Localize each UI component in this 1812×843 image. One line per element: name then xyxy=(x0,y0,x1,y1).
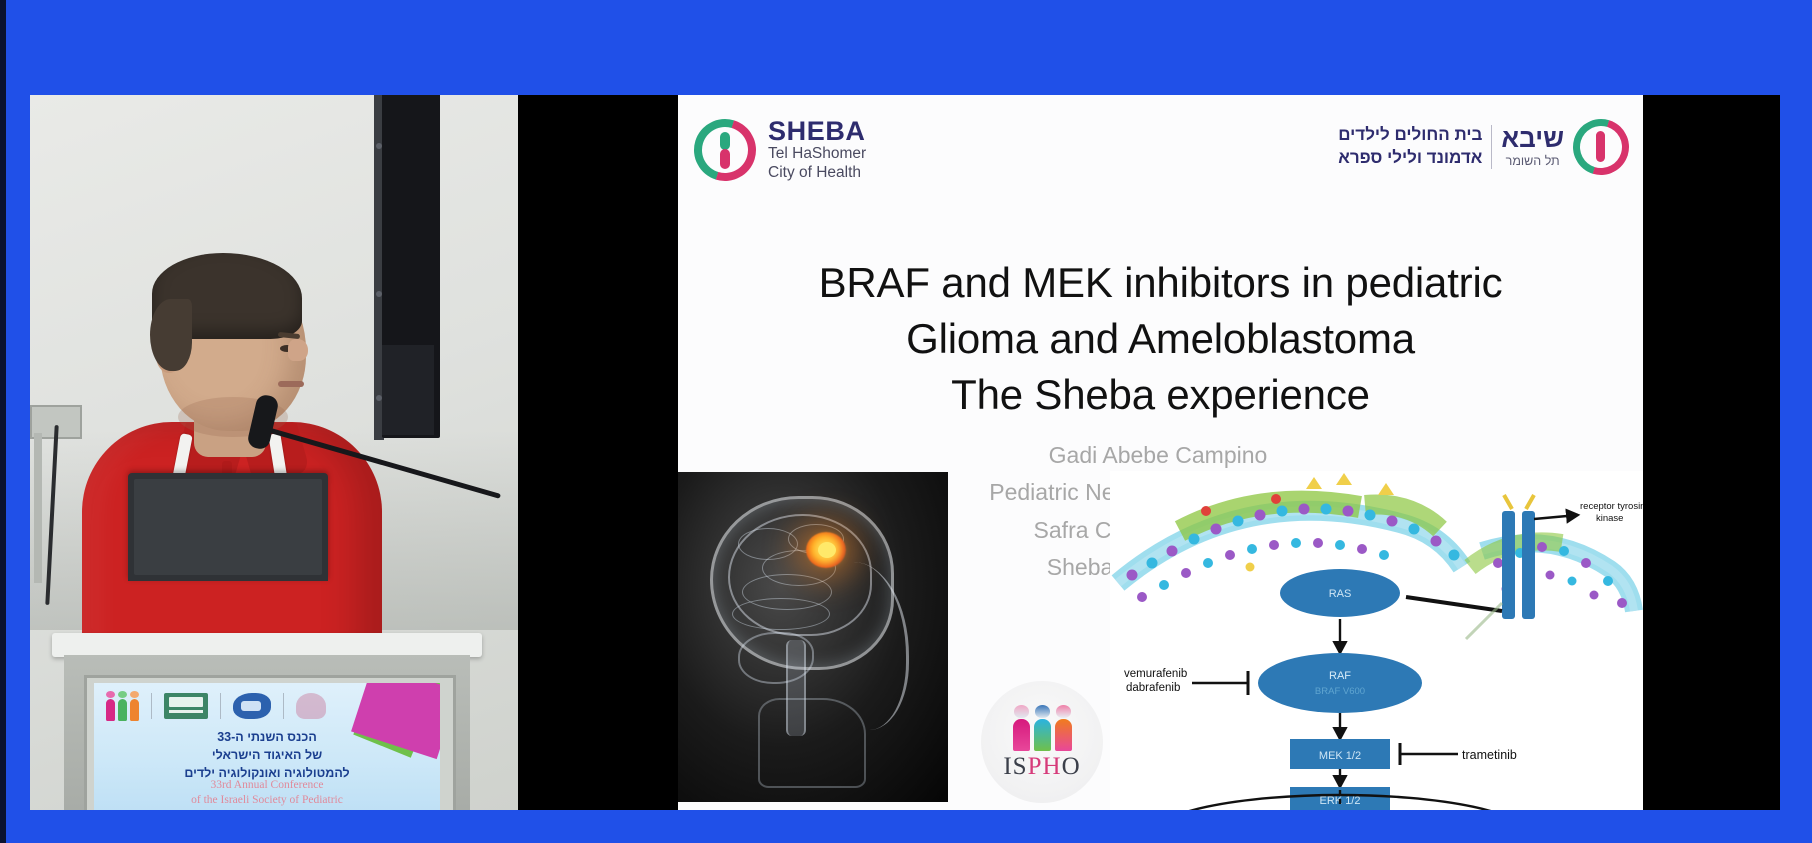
banner-ispho-icon xyxy=(106,691,139,721)
sheba-logo-line-2: Tel HaShomer xyxy=(768,145,866,164)
skull-illustration xyxy=(702,490,920,766)
banner-society-logo-icon xyxy=(233,693,271,719)
letterbox-gap xyxy=(518,95,678,810)
sheba-logo-line-3: City of Health xyxy=(768,164,866,183)
slide-title: BRAF and MEK inhibitors in pediatric Gli… xyxy=(678,255,1643,423)
nucleus-svg: Gene transcription cell growth prolifera… xyxy=(1110,685,1643,810)
ispho-figures-icon xyxy=(1013,705,1072,751)
tumor-core xyxy=(818,542,836,558)
logo-divider xyxy=(1491,125,1492,169)
slide-title-line-2: Glioma and Ameloblastoma xyxy=(678,311,1643,367)
podium-top xyxy=(52,633,482,657)
receptor-label-line-1: receptor tyrosine xyxy=(1580,501,1643,512)
side-table-leg xyxy=(34,433,42,583)
speaker-nose xyxy=(288,339,308,361)
cell-membrane-left xyxy=(1118,502,1462,583)
banner-hebrew-line-2: של האיגוד הישראלי xyxy=(94,747,440,765)
neck-outline xyxy=(758,698,866,788)
podium-laptop xyxy=(128,473,328,581)
hospital-hebrew-line-1: בית החולים לילדים xyxy=(1338,124,1482,147)
presentation-slide: SHEBA Tel HaShomer City of Health שיבא ת… xyxy=(678,95,1643,810)
banner-english-text: 33rd Annual Conference of the Israeli So… xyxy=(94,778,440,808)
sheba-mark-icon xyxy=(694,119,756,181)
brain-gyrus xyxy=(732,598,830,630)
banner-logo-divider xyxy=(220,693,221,719)
conference-banner: הכנס השנתי ה-33 של האיגוד הישראלי להמטול… xyxy=(94,683,440,810)
receptor-label-line-2: kinase xyxy=(1596,513,1623,524)
banner-logo-divider xyxy=(283,693,284,719)
sheba-hebrew-brand-sub: תל השומר xyxy=(1501,153,1564,169)
raf-label: RAF xyxy=(1329,670,1351,682)
banner-logo-divider xyxy=(151,693,152,719)
ispho-wordmark: ISPHO xyxy=(1003,754,1080,779)
hospital-hebrew-line-2: אדמונד ולילי ספרא xyxy=(1338,147,1482,170)
sheba-logo-text: SHEBA Tel HaShomer City of Health xyxy=(768,117,866,183)
video-stage: הכנס השנתי ה-33 של האיגוד הישראלי להמטול… xyxy=(30,95,1780,810)
ispho-figure-2 xyxy=(1034,705,1051,751)
sheba-logo: SHEBA Tel HaShomer City of Health xyxy=(694,117,866,183)
ispho-logo: ISPHO xyxy=(981,681,1103,803)
sheba-logo-line-1: SHEBA xyxy=(768,117,866,145)
brain-xray-image xyxy=(678,472,948,802)
ispho-figure-3 xyxy=(1055,705,1072,751)
video-player-frame: הכנס השנתי ה-33 של האיגוד הישראלי להמטול… xyxy=(0,0,1812,843)
banner-hebrew-line-1: הכנס השנתי ה-33 xyxy=(94,729,440,747)
raf-inhibitor-label-1: vemurafenib xyxy=(1124,668,1187,680)
mapk-pathway-diagram: receptor tyrosine kinase RAS RAF BRAF V6… xyxy=(1110,471,1643,810)
banner-fourth-logo-icon xyxy=(296,693,326,719)
author-name: Gadi Abebe Campino xyxy=(888,437,1428,474)
banner-english-line-1: 33rd Annual Conference xyxy=(94,778,440,793)
ras-label: RAS xyxy=(1329,588,1352,600)
speaker-camera-feed: הכנס השנתי ה-33 של האיגוד הישראלי להמטול… xyxy=(30,95,518,810)
panel-screw-icon xyxy=(376,143,382,149)
ispho-wordmark-part-2: PH xyxy=(1028,753,1062,780)
speaker-figure xyxy=(82,247,382,667)
sheba-hebrew-brand: שיבא תל השומר xyxy=(1501,125,1564,169)
banner-hebrew-text: הכנס השנתי ה-33 של האיגוד הישראלי להמטול… xyxy=(94,729,440,782)
dark-display-panel-lower xyxy=(382,345,434,435)
ispho-wordmark-part-3: O xyxy=(1062,753,1081,780)
childrens-hospital-hebrew: בית החולים לילדים אדמונד ולילי ספרא xyxy=(1338,124,1482,170)
banner-english-line-2: of the Israeli Society of Pediatric xyxy=(94,793,440,808)
ispho-wordmark-part-1: IS xyxy=(1003,753,1027,780)
speaker-sideburn xyxy=(150,299,192,371)
banner-hayim-logo-icon xyxy=(164,693,208,719)
banner-logo-row xyxy=(106,691,326,721)
slide-title-line-1: BRAF and MEK inhibitors in pediatric xyxy=(678,255,1643,311)
sheba-hebrew-logo: שיבא תל השומר בית החולים לילדים אדמונד ו… xyxy=(1338,119,1629,175)
ispho-figure-1 xyxy=(1013,705,1030,751)
letterbox-right xyxy=(1643,95,1780,810)
speaker-mouth xyxy=(278,381,304,387)
laptop-screen xyxy=(134,479,322,575)
sheba-hebrew-brand-name: שיבא xyxy=(1501,125,1564,152)
slide-title-line-3: The Sheba experience xyxy=(678,367,1643,423)
sheba-hebrew-mark-icon xyxy=(1573,119,1629,175)
